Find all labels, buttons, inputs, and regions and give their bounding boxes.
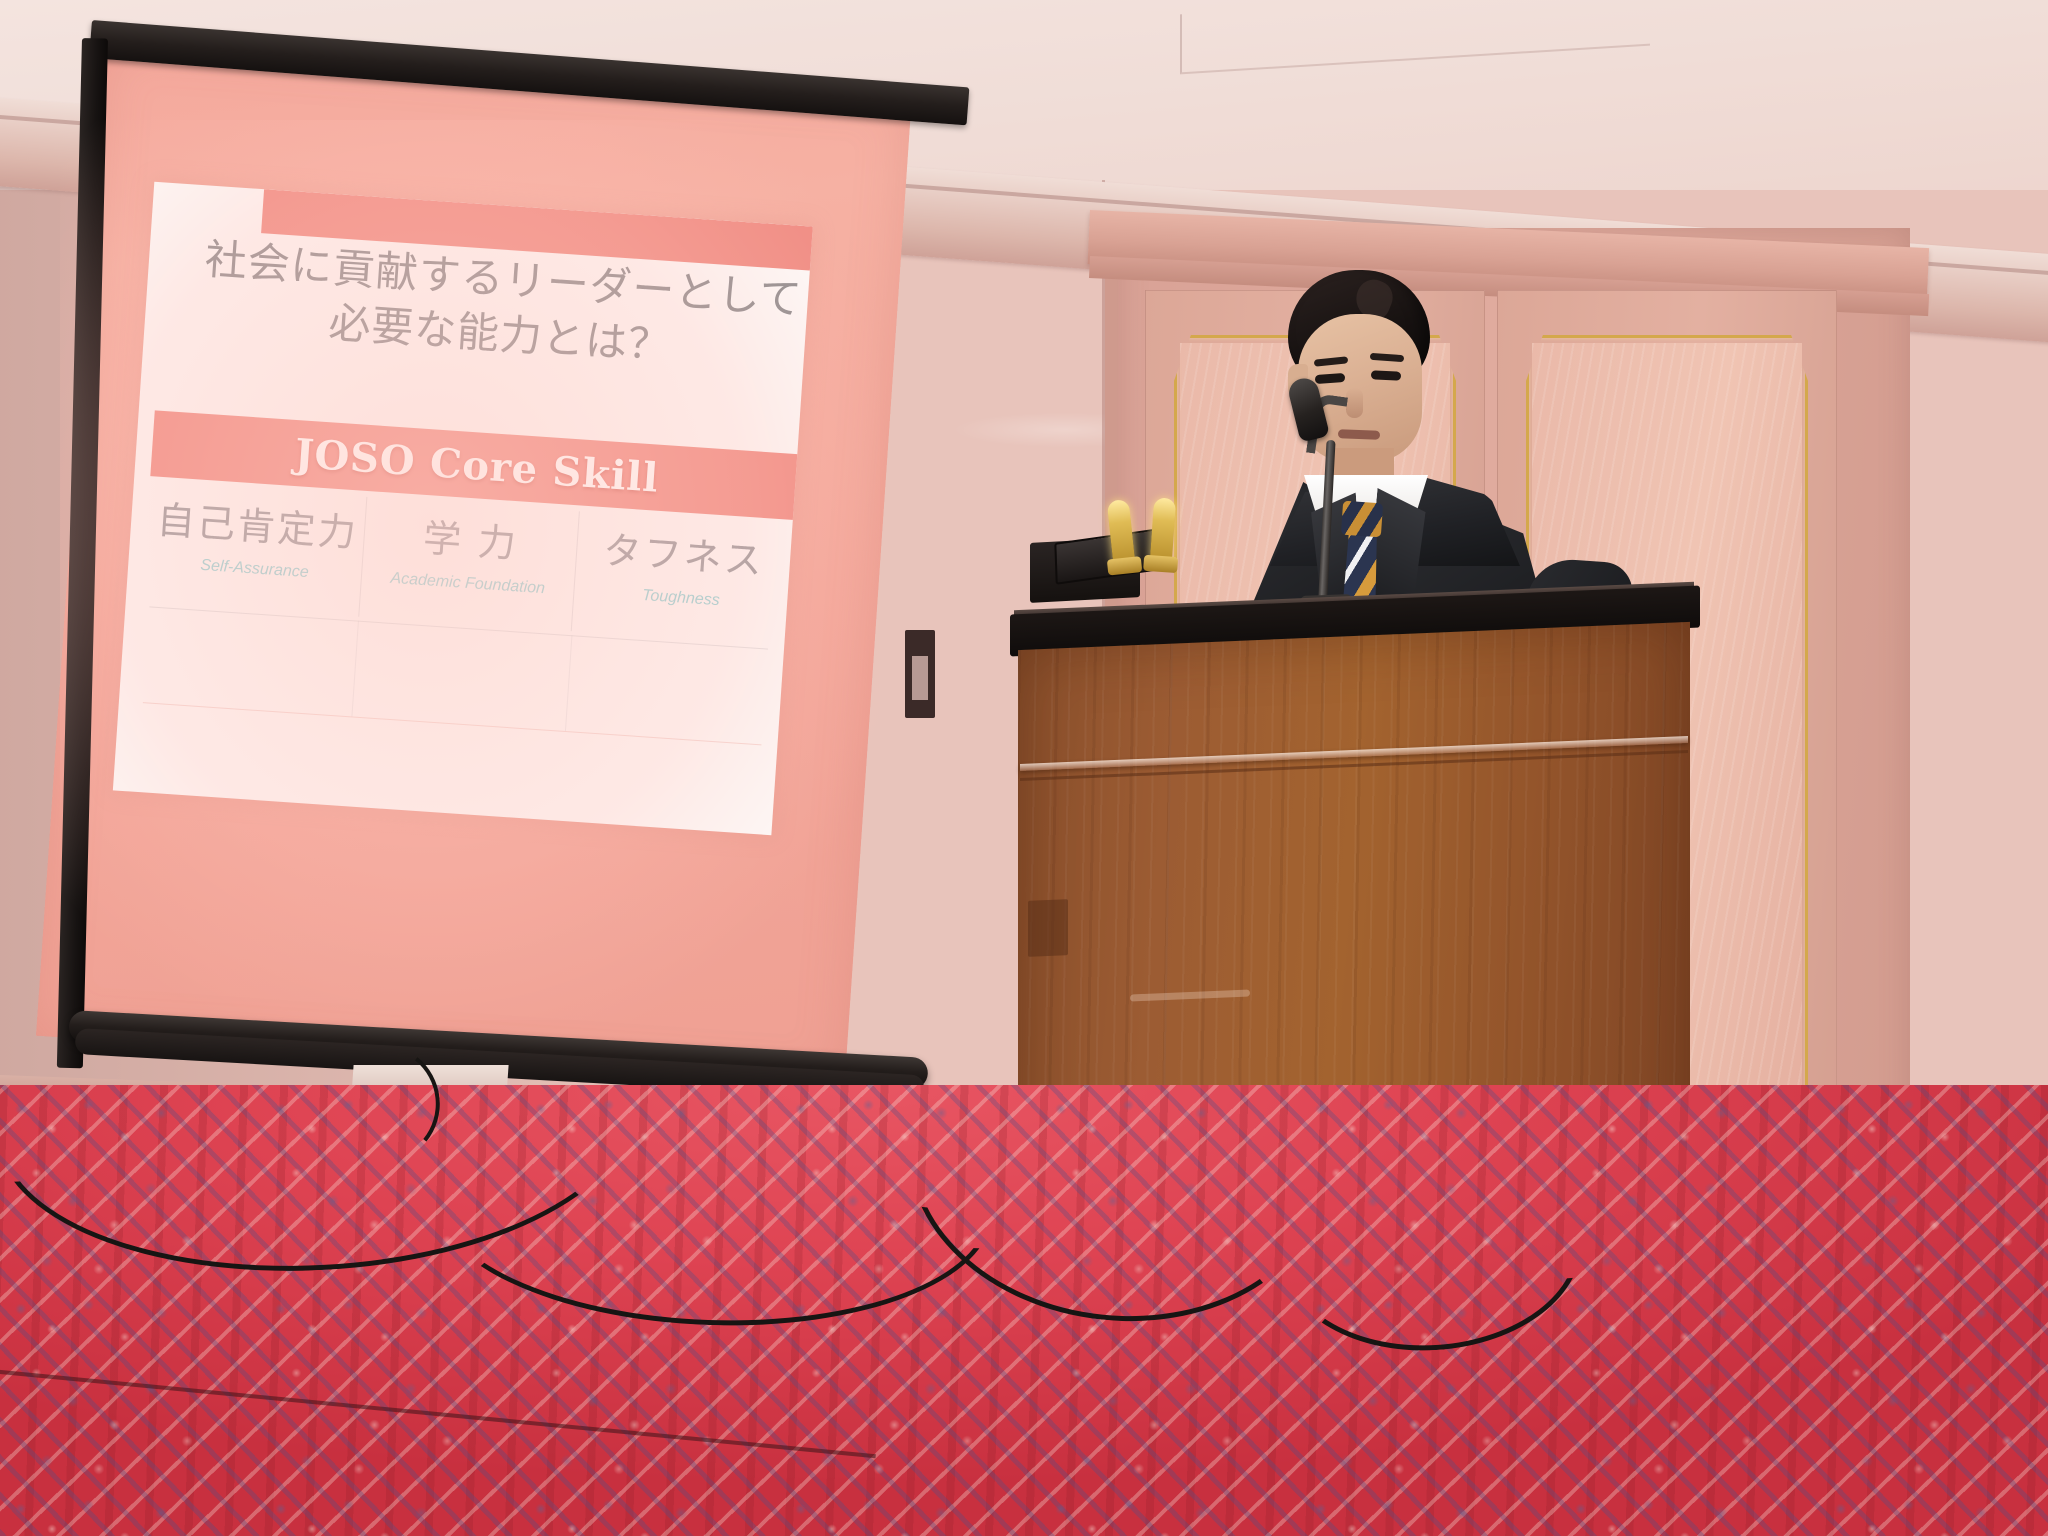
skill-column-academic-foundation: 学 力 Academic Foundation <box>359 497 580 631</box>
presentation-slide: 社会に貢献するリーダーとして 必要な能力とは？ JOSO Core Skill … <box>113 182 813 835</box>
skill-label-ja-1: 自己肯定力 <box>155 489 360 558</box>
slide-column-separator-2 <box>565 635 573 731</box>
slide-divider-lower <box>143 702 762 745</box>
presenter <box>1230 270 1660 630</box>
nose <box>1346 388 1363 418</box>
skill-label-en-1: Self-Assurance <box>200 557 309 582</box>
skill-label-en-2: Academic Foundation <box>390 570 546 598</box>
screen-surface: 社会に貢献するリーダーとして 必要な能力とは？ JOSO Core Skill … <box>36 38 912 1091</box>
gold-finial-right <box>1150 497 1176 562</box>
projection-screen: 社会に貢献するリーダーとして 必要な能力とは？ JOSO Core Skill … <box>62 10 942 1100</box>
podium-panel-mark <box>1028 899 1068 957</box>
slide-column-separator-1 <box>351 621 359 717</box>
conference-room-photo: 社会に貢献するリーダーとして 必要な能力とは？ JOSO Core Skill … <box>0 0 2048 1536</box>
skill-label-ja-3: タフネス <box>602 519 766 585</box>
eye-right <box>1371 370 1401 381</box>
skill-column-self-assurance: 自己肯定力 Self-Assurance <box>146 482 367 616</box>
slide-band-label: JOSO Core Skill <box>293 430 660 502</box>
skill-label-en-3: Toughness <box>642 587 721 610</box>
skill-label-ja-2: 学 力 <box>422 507 520 568</box>
necktie-knot <box>1341 501 1383 538</box>
mouth <box>1338 429 1380 439</box>
skill-column-toughness: タフネス Toughness <box>572 511 792 645</box>
